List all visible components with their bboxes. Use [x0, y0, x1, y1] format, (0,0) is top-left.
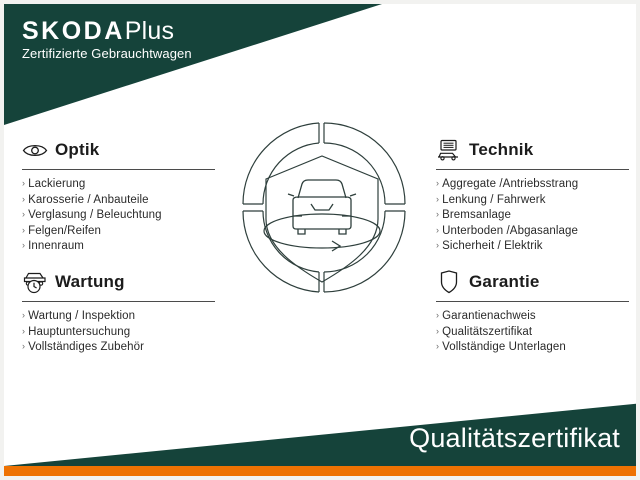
list-item: ›Lackierung: [22, 177, 222, 193]
list-item-label: Innenraum: [28, 240, 84, 252]
chevron-right-icon: ›: [436, 326, 439, 336]
list-item-label: Wartung / Inspektion: [28, 310, 135, 322]
list-item: ›Verglasung / Beleuchtung: [22, 208, 222, 224]
section-title-garantie: Garantie: [469, 272, 540, 292]
chevron-right-icon: ›: [22, 326, 25, 336]
item-list-garantie: ›Garantienachweis ›Qualitätszertifikat ›…: [436, 309, 636, 356]
section-divider-wartung: [22, 301, 215, 302]
chevron-right-icon: ›: [22, 194, 25, 204]
list-item-label: Garantienachweis: [442, 310, 536, 322]
list-item-label: Hauptuntersuchung: [28, 326, 130, 338]
section-block-garantie: Garantie ›Garantienachweis ›Qualitätszer…: [436, 267, 636, 356]
footer-orange-bar: [4, 466, 640, 480]
list-item-label: Vollständiges Zubehör: [28, 341, 144, 353]
list-item-label: Unterboden /Abgasanlage: [442, 225, 578, 237]
section-block-optik: Optik ›Lackierung ›Karosserie / Anbautei…: [22, 135, 222, 255]
shield-icon: [436, 269, 462, 295]
chevron-right-icon: ›: [436, 310, 439, 320]
list-item: ›Wartung / Inspektion: [22, 309, 222, 325]
list-item-label: Vollständige Unterlagen: [442, 341, 566, 353]
certificate-page: SKODAPlus Zertifizierte Gebrauchtwagen O…: [0, 0, 640, 480]
chevron-right-icon: ›: [22, 209, 25, 219]
section-title-wartung: Wartung: [55, 272, 125, 292]
section-header-garantie: Garantie: [436, 267, 636, 297]
item-list-wartung: ›Wartung / Inspektion ›Hauptuntersuchung…: [22, 309, 222, 356]
outer-ring: [243, 123, 405, 292]
list-item: ›Sicherheit / Elektrik: [436, 239, 636, 255]
chevron-right-icon: ›: [22, 341, 25, 351]
list-item-label: Qualitätszertifikat: [442, 326, 532, 338]
section-header-technik: Technik: [436, 135, 636, 165]
list-item: ›Vollständige Unterlagen: [436, 340, 636, 356]
section-divider-technik: [436, 169, 629, 170]
brand-logo: SKODAPlus Zertifizierte Gebrauchtwagen: [22, 18, 192, 62]
section-header-optik: Optik: [22, 135, 222, 165]
list-item: ›Felgen/Reifen: [22, 224, 222, 240]
list-item-label: Sicherheit / Elektrik: [442, 240, 543, 252]
chevron-right-icon: ›: [436, 209, 439, 219]
logo-brand-text: SKODA: [22, 17, 125, 45]
eye-icon: [22, 137, 48, 163]
chevron-right-icon: ›: [436, 225, 439, 235]
car-service-clock-icon: [22, 269, 48, 295]
car-lift-icon: [436, 137, 462, 163]
ring-connectors: [243, 123, 405, 292]
list-item: ›Unterboden /Abgasanlage: [436, 224, 636, 240]
list-item-label: Bremsanlage: [442, 209, 511, 221]
list-item: ›Lenkung / Fahrwerk: [436, 193, 636, 209]
logo-suffix-text: Plus: [125, 17, 174, 45]
orbit-arrow: [332, 241, 340, 251]
list-item: ›Innenraum: [22, 239, 222, 255]
item-list-technik: ›Aggregate /Antriebsstrang ›Lenkung / Fa…: [436, 177, 636, 255]
chevron-right-icon: ›: [22, 225, 25, 235]
section-wartung: Wartung ›Wartung / Inspektion ›Hauptunte…: [22, 267, 222, 356]
section-optik: Optik ›Lackierung ›Karosserie / Anbautei…: [22, 135, 222, 255]
list-item-label: Felgen/Reifen: [28, 225, 101, 237]
item-list-optik: ›Lackierung ›Karosserie / Anbauteile ›Ve…: [22, 177, 222, 255]
list-item: ›Hauptuntersuchung: [22, 325, 222, 341]
logo-tagline: Zertifizierte Gebrauchtwagen: [22, 46, 192, 62]
list-item: ›Aggregate /Antriebsstrang: [436, 177, 636, 193]
list-item: ›Garantienachweis: [436, 309, 636, 325]
chevron-right-icon: ›: [436, 240, 439, 250]
chevron-right-icon: ›: [22, 310, 25, 320]
footer-caption: Qualitätszertifikat: [409, 423, 620, 454]
list-item: ›Karosserie / Anbauteile: [22, 193, 222, 209]
section-title-optik: Optik: [55, 140, 99, 160]
list-item-label: Verglasung / Beleuchtung: [28, 209, 161, 221]
list-item-label: Aggregate /Antriebsstrang: [442, 178, 578, 190]
list-item-label: Lackierung: [28, 178, 85, 190]
list-item: ›Bremsanlage: [436, 208, 636, 224]
list-item-label: Lenkung / Fahrwerk: [442, 194, 545, 206]
section-divider-garantie: [436, 301, 629, 302]
orbit-ellipse: [264, 214, 380, 248]
section-technik: Technik ›Aggregate /Antriebsstrang ›Lenk…: [436, 135, 636, 255]
car-front-icon: [288, 180, 356, 234]
section-divider-optik: [22, 169, 215, 170]
section-block-wartung: Wartung ›Wartung / Inspektion ›Hauptunte…: [22, 267, 222, 356]
list-item: ›Vollständiges Zubehör: [22, 340, 222, 356]
section-garantie: Garantie ›Garantienachweis ›Qualitätszer…: [436, 267, 636, 356]
section-header-wartung: Wartung: [22, 267, 222, 297]
page-canvas: SKODAPlus Zertifizierte Gebrauchtwagen O…: [4, 4, 640, 480]
chevron-right-icon: ›: [436, 178, 439, 188]
chevron-right-icon: ›: [22, 178, 25, 188]
logo-wordmark: SKODAPlus: [22, 18, 192, 45]
list-item-label: Karosserie / Anbauteile: [28, 194, 149, 206]
chevron-right-icon: ›: [22, 240, 25, 250]
list-item: ›Qualitätszertifikat: [436, 325, 636, 341]
chevron-right-icon: ›: [436, 341, 439, 351]
section-block-technik: Technik ›Aggregate /Antriebsstrang ›Lenk…: [436, 135, 636, 255]
protected-car-emblem: [236, 116, 412, 302]
section-title-technik: Technik: [469, 140, 533, 160]
chevron-right-icon: ›: [436, 194, 439, 204]
